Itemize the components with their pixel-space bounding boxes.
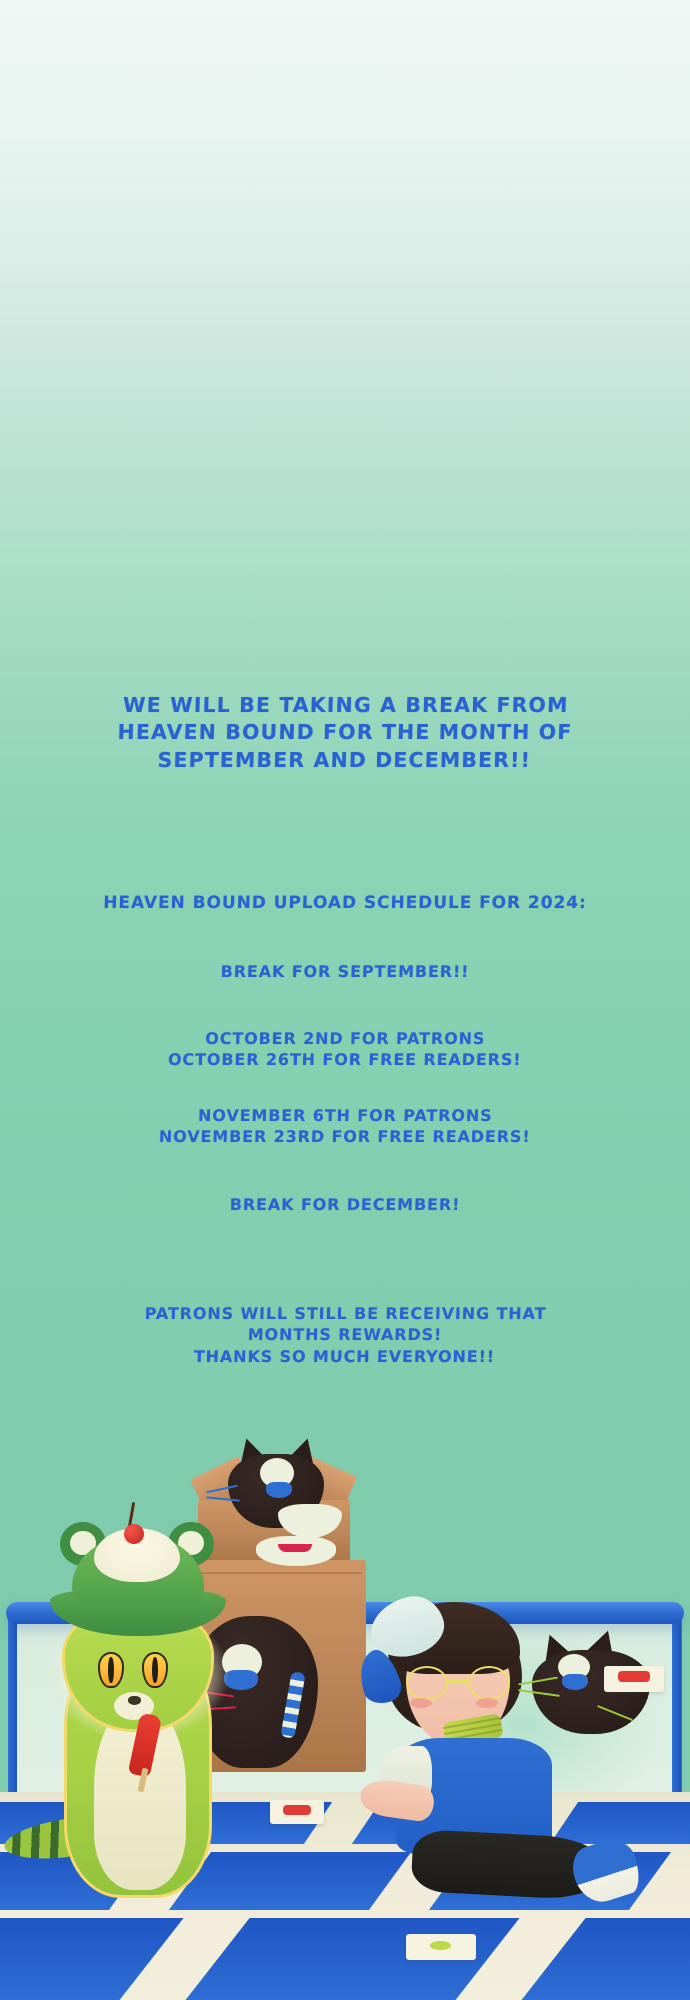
- cat-mouth: [278, 1544, 312, 1552]
- glasses-bridge: [448, 1680, 468, 1683]
- cat-nose-icon: [128, 1696, 141, 1705]
- cat-eye-right: [142, 1652, 168, 1688]
- schedule-october: OCTOBER 2ND FOR PATRONS OCTOBER 26TH FOR…: [0, 1028, 690, 1071]
- illustration: [0, 1420, 690, 2000]
- floor-tile: [0, 1918, 184, 2000]
- announcement-page: WE WILL BE TAKING A BREAK FROM HEAVEN BO…: [0, 0, 690, 2000]
- cherry-icon: [124, 1524, 144, 1544]
- cat-muzzle-patch: [562, 1674, 588, 1690]
- lens-left: [406, 1666, 448, 1700]
- cat-muzzle-patch: [266, 1482, 292, 1498]
- bench-leg-right: [672, 1616, 681, 1806]
- schedule-december: BREAK FOR DECEMBER!: [0, 1195, 690, 1216]
- announcement-headline: WE WILL BE TAKING A BREAK FROM HEAVEN BO…: [0, 692, 690, 774]
- schedule-title: HEAVEN BOUND UPLOAD SCHEDULE FOR 2024:: [0, 892, 690, 914]
- popsicle-wrapper: [604, 1666, 664, 1692]
- schedule-november: NOVEMBER 6TH FOR PATRONS NOVEMBER 23RD F…: [0, 1105, 690, 1148]
- lens-right: [468, 1666, 510, 1700]
- glasses-icon: [406, 1666, 512, 1700]
- popsicle-wrapper: [406, 1934, 476, 1960]
- cat-eye-left: [98, 1652, 124, 1688]
- green-cat-character: [42, 1500, 232, 1920]
- schedule-september: BREAK FOR SEPTEMBER!!: [0, 962, 690, 983]
- bench-leg-left: [8, 1616, 17, 1806]
- popsicle-wrapper: [270, 1800, 324, 1824]
- blush-left: [410, 1698, 432, 1708]
- closing-message: PATRONS WILL STILL BE RECEIVING THAT MON…: [0, 1303, 690, 1367]
- blush-right: [476, 1698, 498, 1708]
